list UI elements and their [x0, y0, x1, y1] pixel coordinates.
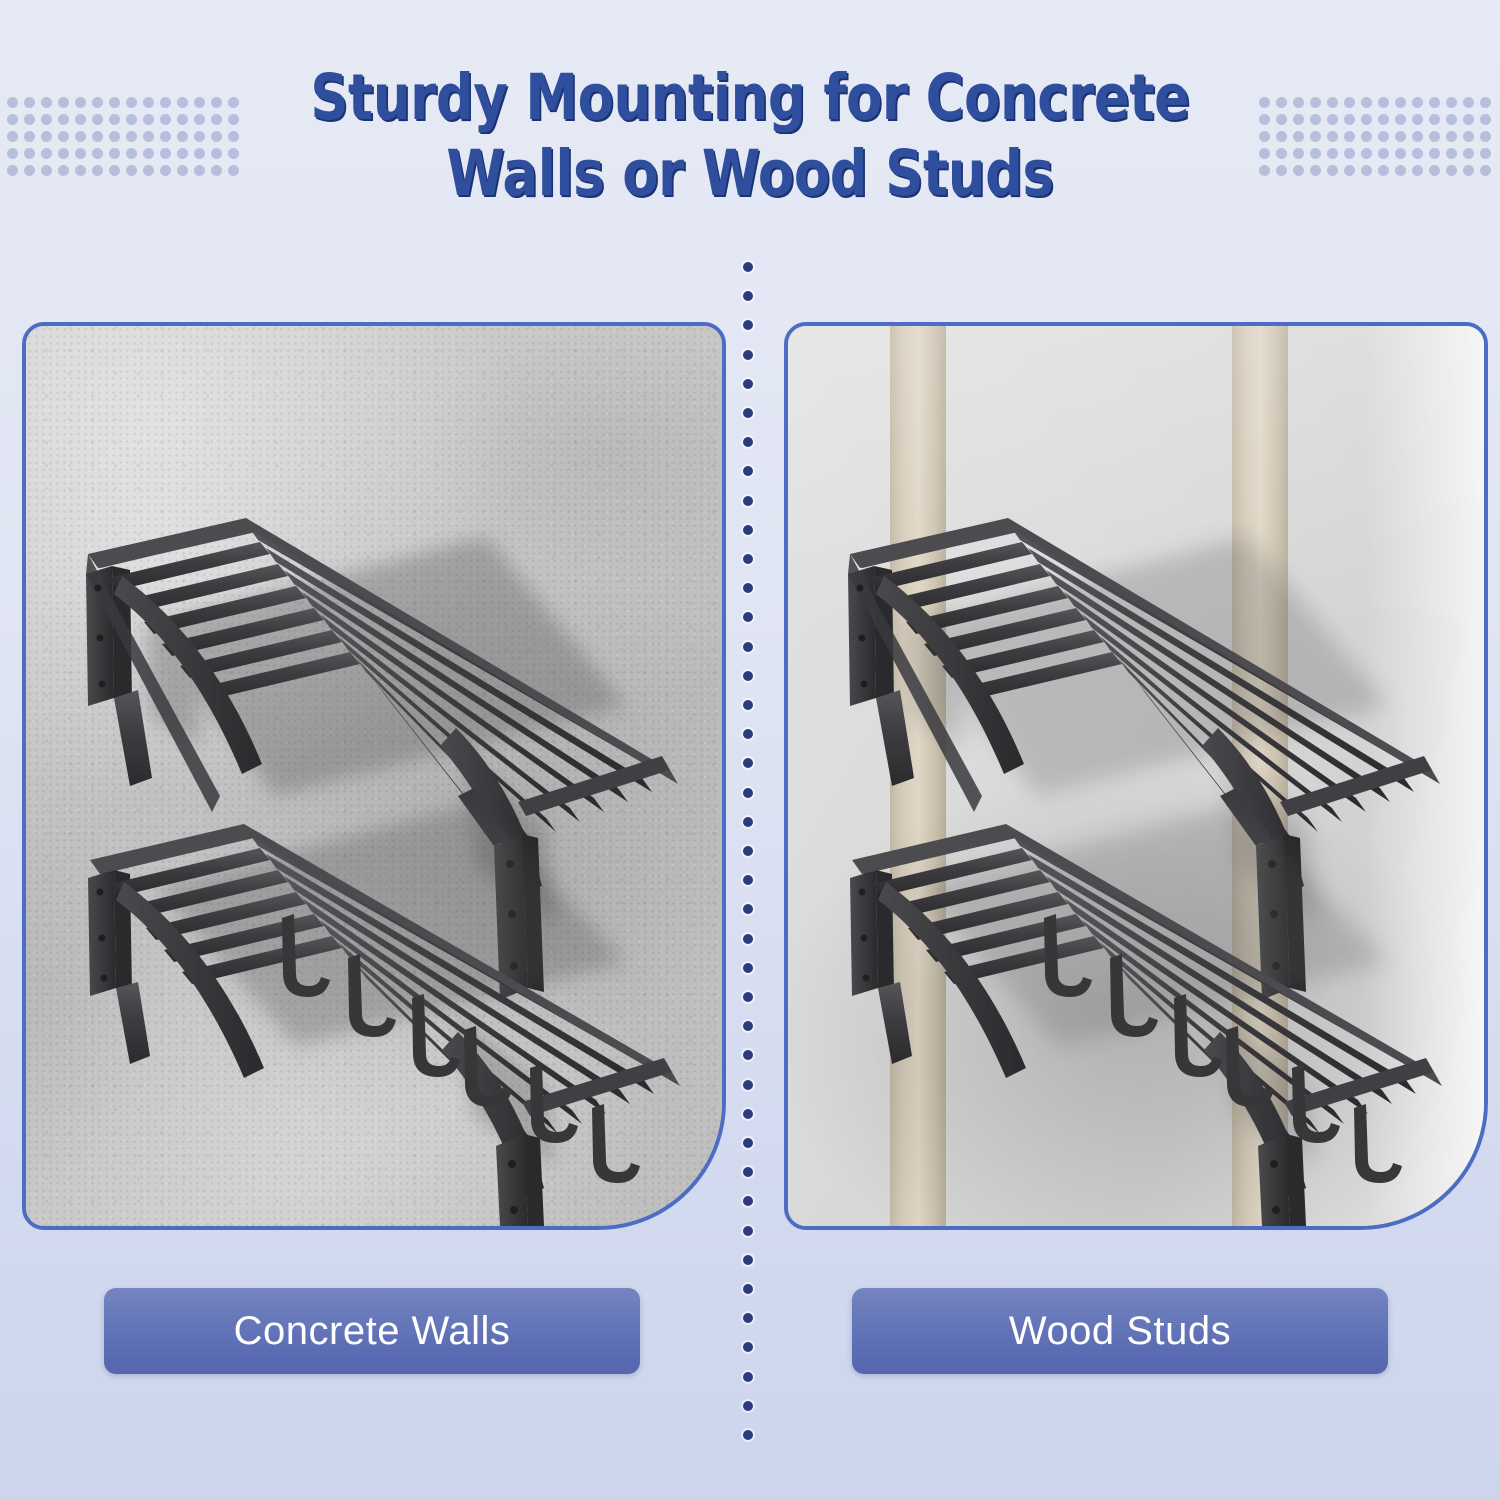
- wood-studs-label-text: Wood Studs: [1009, 1309, 1231, 1354]
- divider-dot: [743, 1255, 753, 1265]
- page-title: Sturdy Mounting for Concrete Walls or Wo…: [0, 60, 1500, 212]
- divider-dot: [743, 992, 753, 1002]
- divider-dot: [743, 1080, 753, 1090]
- divider-dot: [743, 1342, 753, 1352]
- wood-stud-panel: [784, 322, 1488, 1230]
- divider-dot: [743, 262, 753, 272]
- wood-stud-image: [788, 326, 1484, 1226]
- divider-dot: [743, 320, 753, 330]
- divider-dot: [743, 904, 753, 914]
- divider-dot: [743, 408, 753, 418]
- wood-studs-label: Wood Studs: [852, 1288, 1388, 1374]
- divider-dot: [743, 612, 753, 622]
- divider-dot: [743, 788, 753, 798]
- divider-dot: [743, 875, 753, 885]
- page-title-line-1: Sturdy Mounting for Concrete: [120, 60, 1380, 136]
- concrete-walls-label: Concrete Walls: [104, 1288, 640, 1374]
- divider-dot: [743, 1372, 753, 1382]
- divider-dot: [743, 554, 753, 564]
- divider-dot: [743, 1284, 753, 1294]
- vertical-dotted-divider: [743, 262, 753, 1430]
- divider-dot: [743, 379, 753, 389]
- concrete-panel-shelves: [26, 326, 722, 1226]
- divider-dot: [743, 700, 753, 710]
- divider-dot: [743, 1226, 753, 1236]
- concrete-walls-label-text: Concrete Walls: [234, 1309, 511, 1354]
- concrete-wall-image: [26, 326, 722, 1226]
- divider-dot: [743, 350, 753, 360]
- divider-dot: [743, 1021, 753, 1031]
- divider-dot: [743, 583, 753, 593]
- divider-dot: [743, 437, 753, 447]
- divider-dot: [743, 525, 753, 535]
- divider-dot: [743, 291, 753, 301]
- divider-dot: [743, 729, 753, 739]
- divider-dot: [743, 758, 753, 768]
- divider-dot: [743, 1430, 753, 1440]
- divider-dot: [743, 466, 753, 476]
- divider-dot: [743, 1050, 753, 1060]
- divider-dot: [743, 496, 753, 506]
- divider-dot: [743, 1109, 753, 1119]
- divider-dot: [743, 934, 753, 944]
- divider-dot: [743, 1167, 753, 1177]
- divider-dot: [743, 1138, 753, 1148]
- divider-dot: [743, 846, 753, 856]
- divider-dot: [743, 671, 753, 681]
- divider-dot: [743, 1196, 753, 1206]
- divider-dot: [743, 642, 753, 652]
- divider-dot: [743, 1313, 753, 1323]
- page-title-line-2: Walls or Wood Studs: [120, 136, 1380, 212]
- concrete-wall-panel: [22, 322, 726, 1230]
- divider-dot: [743, 817, 753, 827]
- divider-dot: [743, 1401, 753, 1411]
- divider-dot: [743, 963, 753, 973]
- wood-panel-shelves: [788, 326, 1484, 1226]
